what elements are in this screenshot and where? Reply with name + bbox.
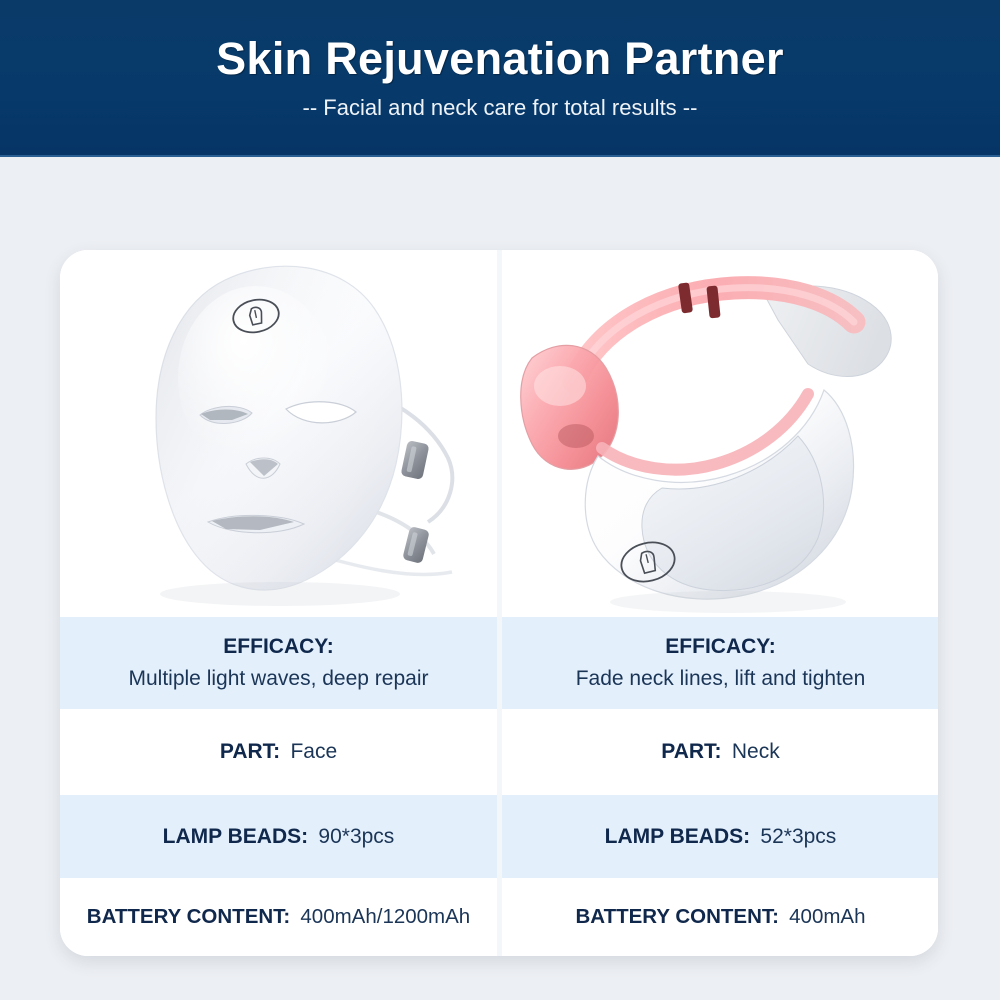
neck-device-illustration — [502, 250, 938, 617]
spec-label-part: PART: — [661, 740, 727, 763]
mask-strap-clip-upper — [400, 440, 429, 480]
spec-row-efficacy: EFFICACY: Fade neck lines, lift and tigh… — [502, 617, 938, 709]
spec-value-efficacy: Fade neck lines, lift and tighten — [576, 667, 866, 691]
neck-drop-shadow — [610, 591, 846, 613]
page-subtitle: -- Facial and neck care for total result… — [303, 96, 698, 120]
spec-label-efficacy: EFFICACY: — [223, 635, 333, 659]
neck-lens-shadow — [558, 424, 594, 448]
spec-value-part: Face — [290, 740, 337, 763]
spec-label-efficacy: EFFICACY: — [665, 635, 775, 659]
mask-strap-clip-lower — [402, 526, 430, 564]
product-column-neck-device: EFFICACY: Fade neck lines, lift and tigh… — [502, 250, 938, 956]
spec-row-part: PART: Neck — [502, 709, 938, 795]
product-photo-neck-device — [502, 250, 938, 617]
spec-label-lamp-beads: LAMP BEADS: — [605, 825, 756, 848]
spec-row-lamp-beads: LAMP BEADS: 52*3pcs — [502, 795, 938, 878]
spec-row-lamp-beads: LAMP BEADS: 90*3pcs — [60, 795, 497, 878]
spec-table-face-mask: EFFICACY: Multiple light waves, deep rep… — [60, 617, 497, 956]
spec-label-part: PART: — [220, 740, 286, 763]
header-banner: Skin Rejuvenation Partner -- Facial and … — [0, 0, 1000, 157]
spec-row-part: PART: Face — [60, 709, 497, 795]
spec-value-part: Neck — [732, 740, 780, 763]
mask-drop-shadow — [160, 582, 400, 606]
spec-value-battery-content: 400mAh — [789, 905, 865, 928]
spec-row-battery-content: BATTERY CONTENT: 400mAh — [502, 878, 938, 956]
spec-table-neck-device: EFFICACY: Fade neck lines, lift and tigh… — [502, 617, 938, 956]
face-mask-illustration — [60, 250, 497, 617]
spec-value-efficacy: Multiple light waves, deep repair — [129, 667, 429, 691]
spec-row-battery-content: BATTERY CONTENT: 400mAh/1200mAh — [60, 878, 497, 956]
spec-value-battery-content: 400mAh/1200mAh — [300, 905, 470, 928]
product-comparison-card: EFFICACY: Multiple light waves, deep rep… — [60, 250, 938, 956]
spec-value-lamp-beads: 90*3pcs — [318, 825, 394, 848]
spec-label-battery-content: BATTERY CONTENT: — [87, 905, 296, 928]
product-photo-face-mask — [60, 250, 497, 617]
spec-label-battery-content: BATTERY CONTENT: — [576, 905, 785, 928]
neck-lens-highlight — [534, 366, 586, 406]
spec-label-lamp-beads: LAMP BEADS: — [163, 825, 314, 848]
product-column-face-mask: EFFICACY: Multiple light waves, deep rep… — [60, 250, 497, 956]
spec-value-lamp-beads: 52*3pcs — [760, 825, 836, 848]
spec-row-efficacy: EFFICACY: Multiple light waves, deep rep… — [60, 617, 497, 709]
page-title: Skin Rejuvenation Partner — [216, 35, 784, 82]
